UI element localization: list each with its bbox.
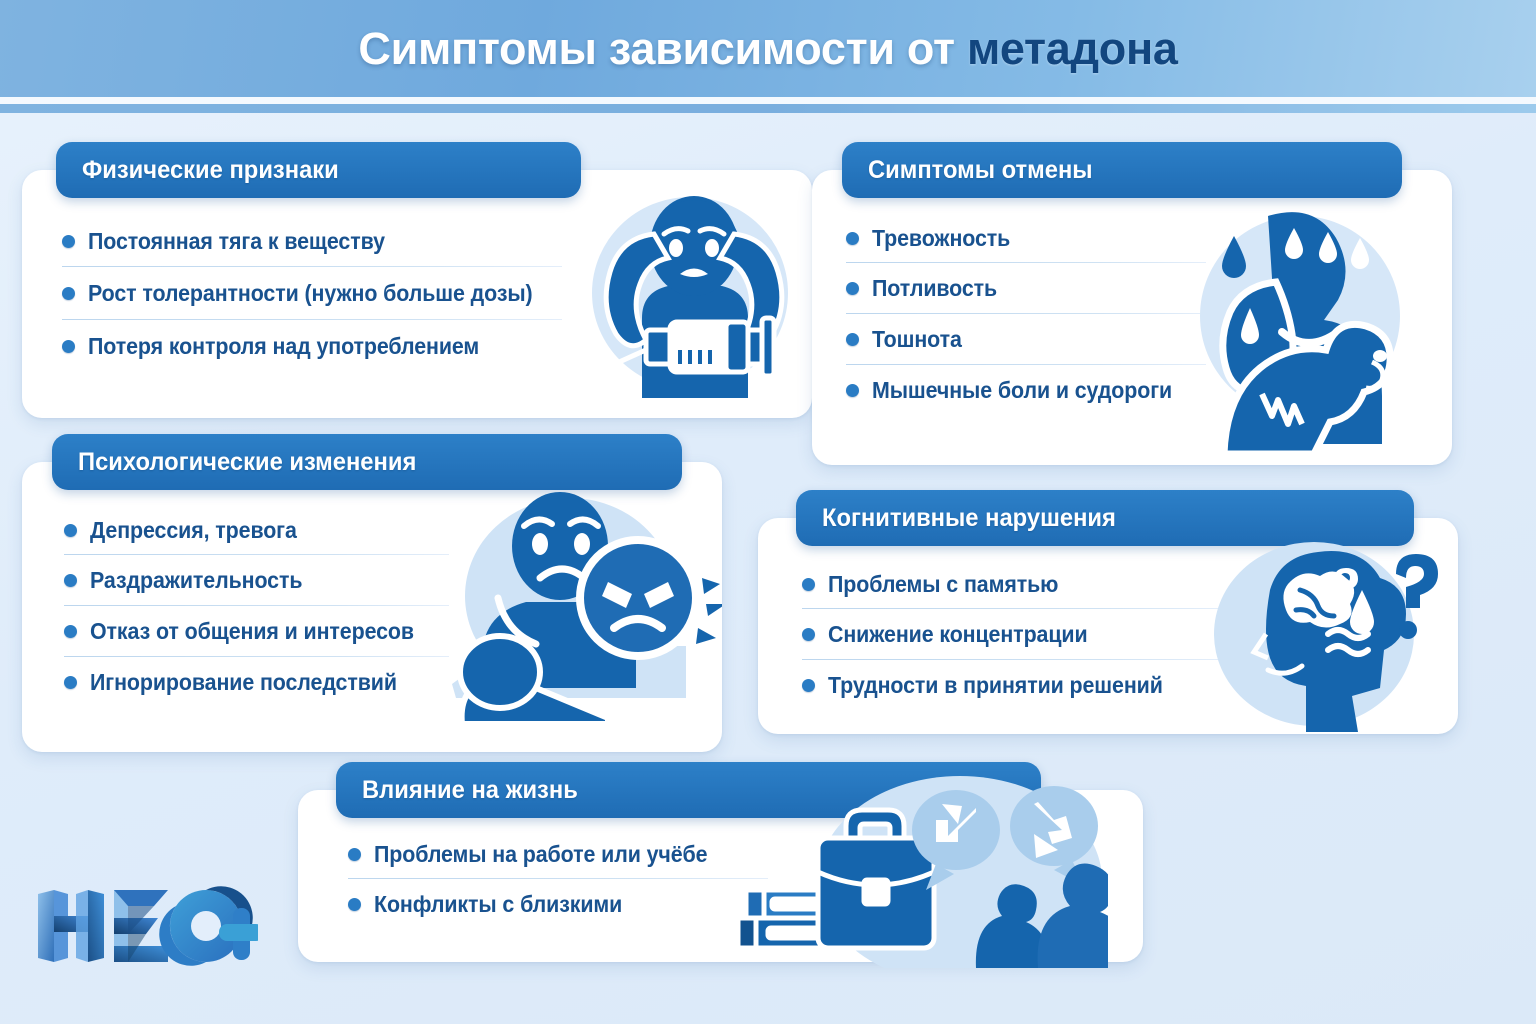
bullet-icon bbox=[62, 235, 75, 248]
list-item-label: Снижение концентрации bbox=[828, 621, 1088, 648]
list-item-label: Игнорирование последствий bbox=[90, 669, 397, 696]
card-life-impact: Влияние на жизнь Проблемы на работе или … bbox=[298, 790, 1143, 962]
logo-letter-n bbox=[38, 890, 104, 962]
list-item-label: Проблемы на работе или учёбе bbox=[374, 841, 707, 868]
list-item: Снижение концентрации bbox=[802, 609, 1242, 659]
bullet-icon bbox=[64, 625, 77, 638]
list-item-label: Трудности в принятии решений bbox=[828, 672, 1163, 699]
bullet-icon bbox=[846, 333, 859, 346]
list-item-label: Потеря контроля над употреблением bbox=[88, 333, 479, 360]
list-item: Потливость bbox=[846, 263, 1236, 313]
sad-angry-faces-icon bbox=[442, 486, 722, 726]
list-item-label: Мышечные боли и судороги bbox=[872, 377, 1172, 404]
list-item-label: Конфликты с близкими bbox=[374, 891, 622, 918]
poster-header: Симптомы зависимости от метадона bbox=[0, 0, 1536, 97]
bullet-icon bbox=[348, 848, 361, 861]
bullet-icon bbox=[802, 578, 815, 591]
card-title: Когнитивные нарушения bbox=[822, 504, 1116, 533]
header-divider bbox=[0, 97, 1536, 104]
card-title: Физические признаки bbox=[82, 156, 339, 185]
list-item: Потеря контроля над употреблением bbox=[62, 320, 582, 372]
card-withdrawal-symptoms: Симптомы отмены Тревожность Потливость Т… bbox=[812, 170, 1452, 465]
page-title: Симптомы зависимости от метадона bbox=[358, 23, 1177, 75]
bullet-icon bbox=[348, 898, 361, 911]
list-item-label: Проблемы с памятью bbox=[828, 571, 1058, 598]
card-title: Симптомы отмены bbox=[868, 156, 1093, 185]
card-title: Психологические изменения bbox=[78, 448, 416, 477]
bullet-icon bbox=[62, 287, 75, 300]
list-item: Раздражительность bbox=[64, 555, 474, 605]
card-header-withdrawal-symptoms: Симптомы отмены bbox=[842, 142, 1402, 198]
list-item: Проблемы с памятью bbox=[802, 560, 1242, 608]
list-item: Депрессия, тревога bbox=[64, 506, 474, 554]
stressed-person-syringe-icon bbox=[570, 190, 800, 400]
bullet-icon bbox=[64, 524, 77, 537]
card-header-psychological-changes: Психологические изменения bbox=[52, 434, 682, 490]
list-item-label: Раздражительность bbox=[90, 567, 302, 594]
list-item-label: Тревожность bbox=[872, 225, 1010, 252]
list-item: Постоянная тяга к веществу bbox=[62, 216, 582, 266]
list-item-label: Потливость bbox=[872, 275, 997, 302]
list-item: Тревожность bbox=[846, 214, 1236, 262]
list-item-label: Рост толерантности (нужно больше дозы) bbox=[88, 280, 533, 307]
list-item: Мышечные боли и судороги bbox=[846, 365, 1236, 415]
bullet-icon bbox=[802, 679, 815, 692]
bullet-icon bbox=[64, 676, 77, 689]
head-brain-question-icon bbox=[1210, 538, 1440, 734]
bullet-icon bbox=[802, 628, 815, 641]
page-title-accent: метадона bbox=[967, 23, 1178, 74]
list-item-label: Отказ от общения и интересов bbox=[90, 618, 414, 645]
list-item: Отказ от общения и интересов bbox=[64, 606, 474, 656]
card-psychological-changes: Психологические изменения Депрессия, тре… bbox=[22, 462, 722, 752]
list-item-label: Депрессия, тревога bbox=[90, 517, 297, 544]
logo-letter-e bbox=[114, 890, 168, 962]
list-item: Трудности в принятии решений bbox=[802, 660, 1242, 710]
list-item: Рост толерантности (нужно больше дозы) bbox=[62, 267, 582, 319]
briefcase-books-people-icon bbox=[728, 768, 1108, 968]
bullet-icon bbox=[846, 384, 859, 397]
bullet-icon bbox=[846, 282, 859, 295]
list-item: Игнорирование последствий bbox=[64, 657, 474, 707]
list-item-label: Постоянная тяга к веществу bbox=[88, 228, 385, 255]
page-title-main: Симптомы зависимости от bbox=[358, 23, 967, 74]
header-underbar bbox=[0, 104, 1536, 113]
infographic-poster: Симптомы зависимости от метадона Физичес… bbox=[0, 0, 1536, 1024]
sweating-person-cramps-icon bbox=[1190, 204, 1440, 456]
card-physical-signs: Физические признаки Постоянная тяга к ве… bbox=[22, 170, 812, 418]
bullet-icon bbox=[62, 340, 75, 353]
card-header-physical-signs: Физические признаки bbox=[56, 142, 581, 198]
bullet-icon bbox=[64, 574, 77, 587]
card-cognitive-impairment: Когнитивные нарушения Проблемы с памятью… bbox=[758, 518, 1458, 734]
list-item: Тошнота bbox=[846, 314, 1236, 364]
brand-logo[interactable] bbox=[36, 886, 258, 966]
bullet-icon bbox=[846, 232, 859, 245]
card-title: Влияние на жизнь bbox=[362, 776, 578, 805]
list-item-label: Тошнота bbox=[872, 326, 962, 353]
